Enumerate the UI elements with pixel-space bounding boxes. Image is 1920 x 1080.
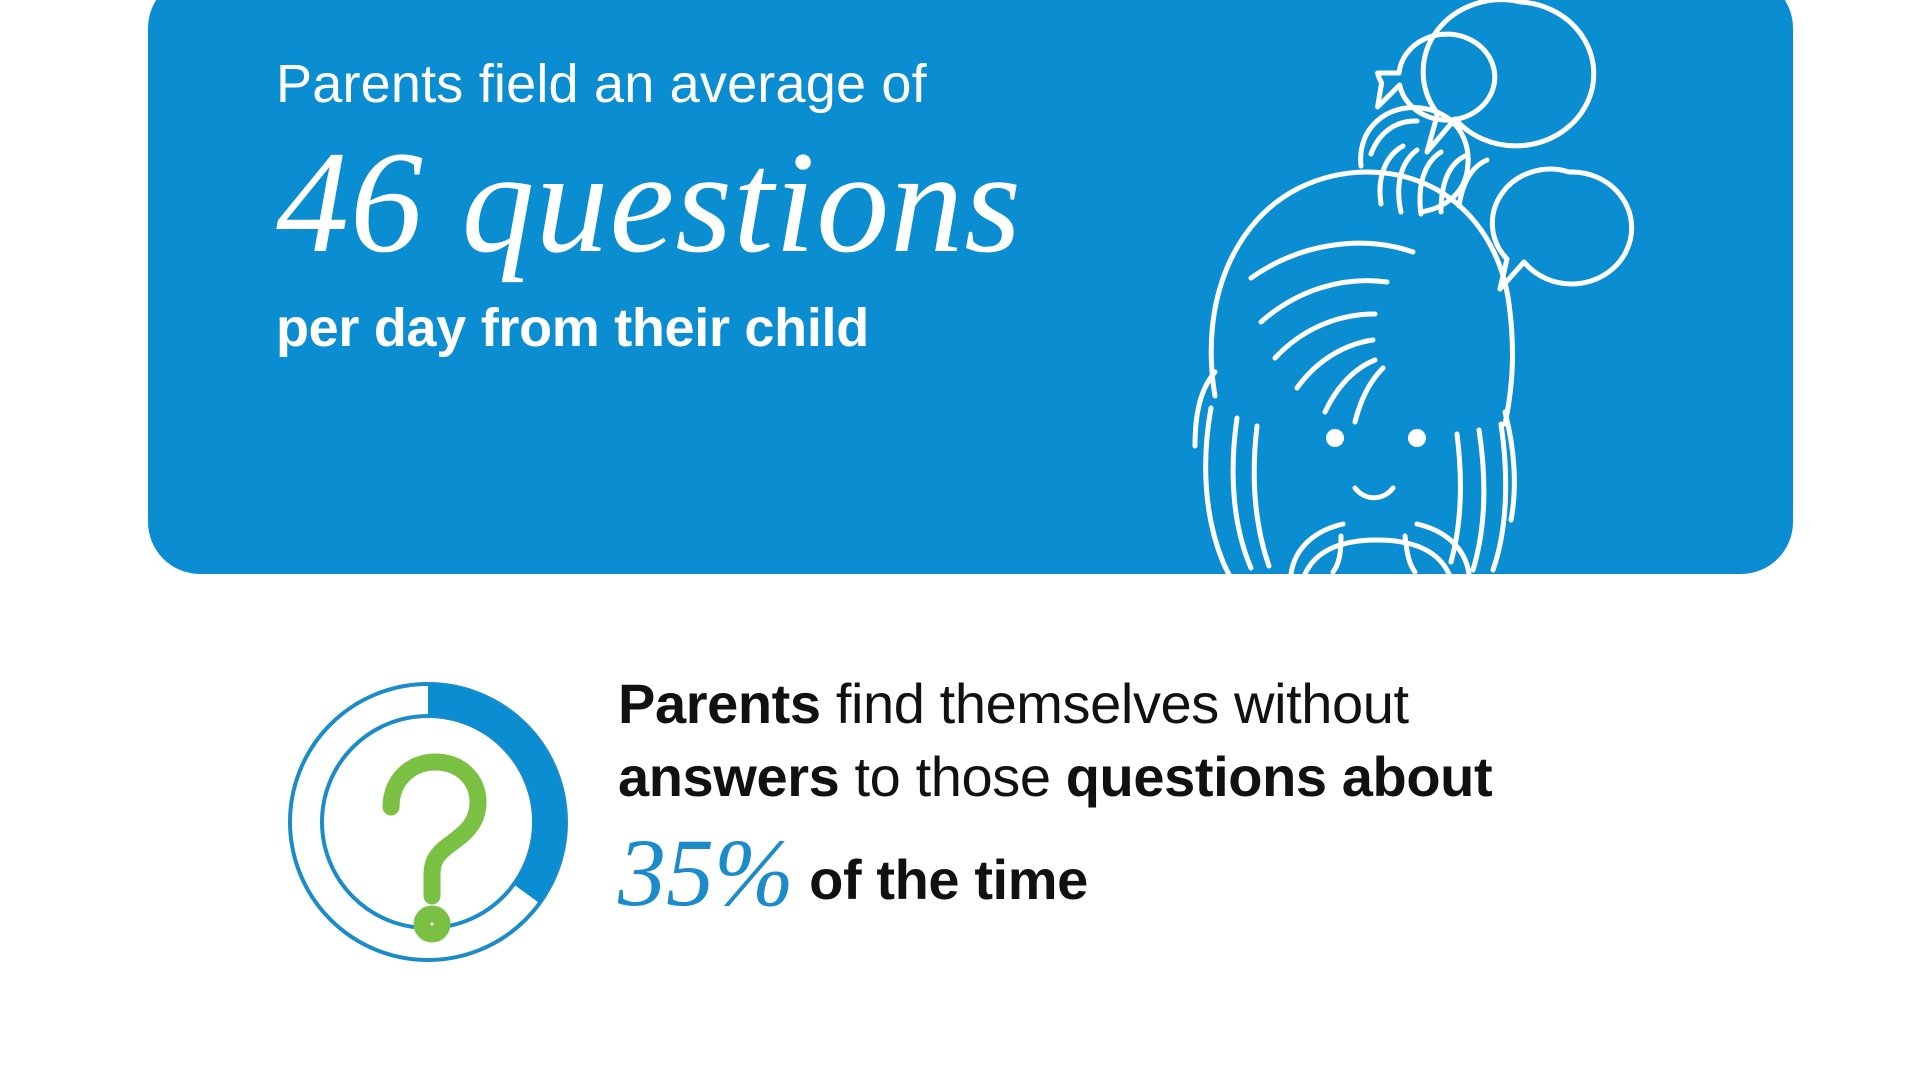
infographic-canvas: Parents field an average of 46 questions…: [0, 0, 1920, 1080]
stat-line-1-rest: find themselves without: [836, 672, 1409, 735]
girl-with-speech-bubbles-icon: [1149, 0, 1789, 574]
stat-percent-tail: of the time: [809, 848, 1088, 911]
stat-line-2-bold-a: answers: [618, 745, 839, 808]
hero-lead-line: Parents field an average of: [276, 56, 1196, 113]
stat-row: Parents find themselves without answers …: [0, 640, 1920, 1020]
donut-chart: [262, 656, 594, 988]
stat-line-1: Parents find themselves without: [618, 668, 1818, 741]
hero-card: Parents field an average of 46 questions…: [148, 0, 1793, 574]
stat-line-3: 35% of the time: [618, 816, 1818, 929]
stat-line-2-mid: to those: [855, 745, 1051, 808]
question-mark-icon: [391, 762, 478, 934]
stat-line-2-bold-b: questions about: [1066, 745, 1492, 808]
hero-highlight-number: 46 questions: [276, 121, 1196, 285]
stat-line-1-bold: Parents: [618, 672, 821, 735]
stat-text-block: Parents find themselves without answers …: [618, 668, 1818, 929]
stat-percent-value: 35%: [618, 819, 794, 926]
hero-text-block: Parents field an average of 46 questions…: [276, 56, 1196, 357]
stat-line-2: answers to those questions about: [618, 741, 1818, 814]
hero-trailing-line: per day from their child: [276, 300, 1196, 357]
